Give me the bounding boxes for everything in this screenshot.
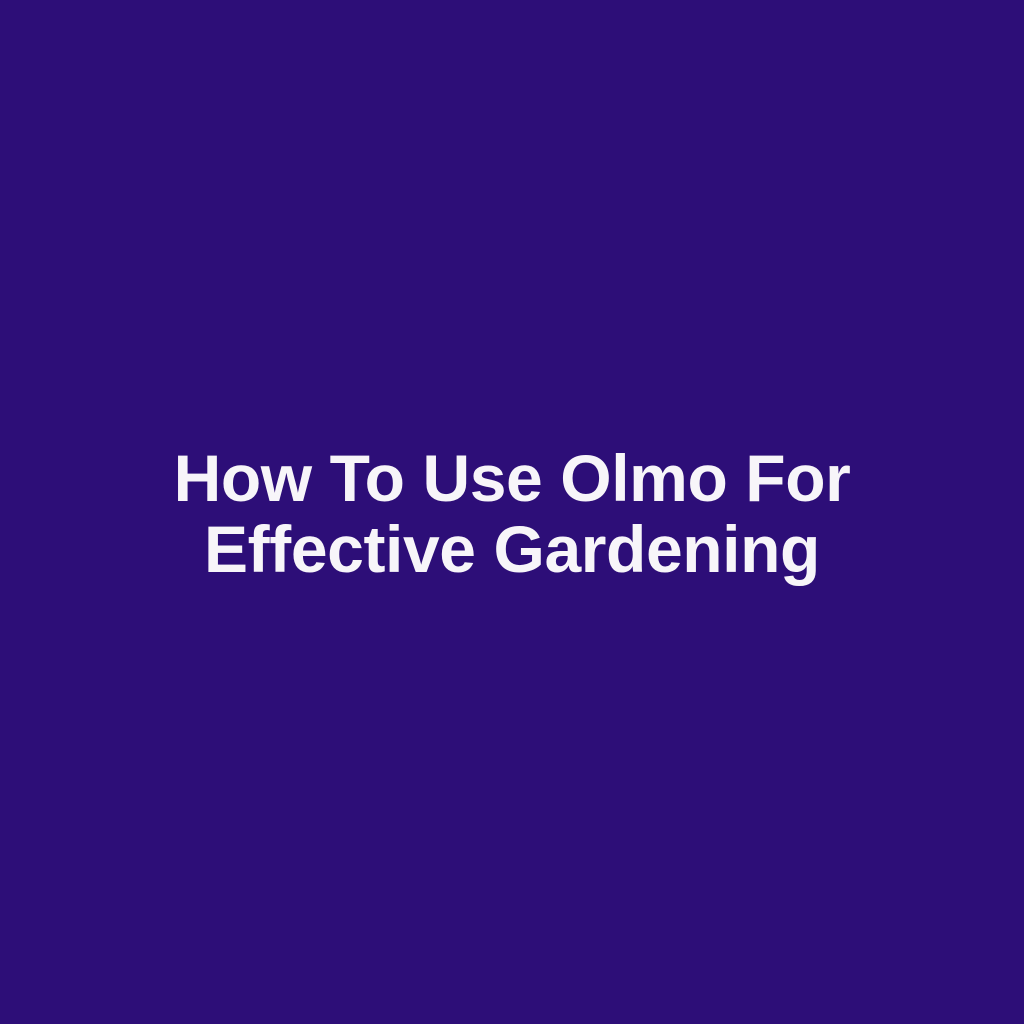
- title-card: How To Use Olmo For Effective Gardening: [0, 0, 1024, 1024]
- page-title: How To Use Olmo For Effective Gardening: [80, 443, 944, 586]
- title-block: How To Use Olmo For Effective Gardening: [0, 443, 1024, 586]
